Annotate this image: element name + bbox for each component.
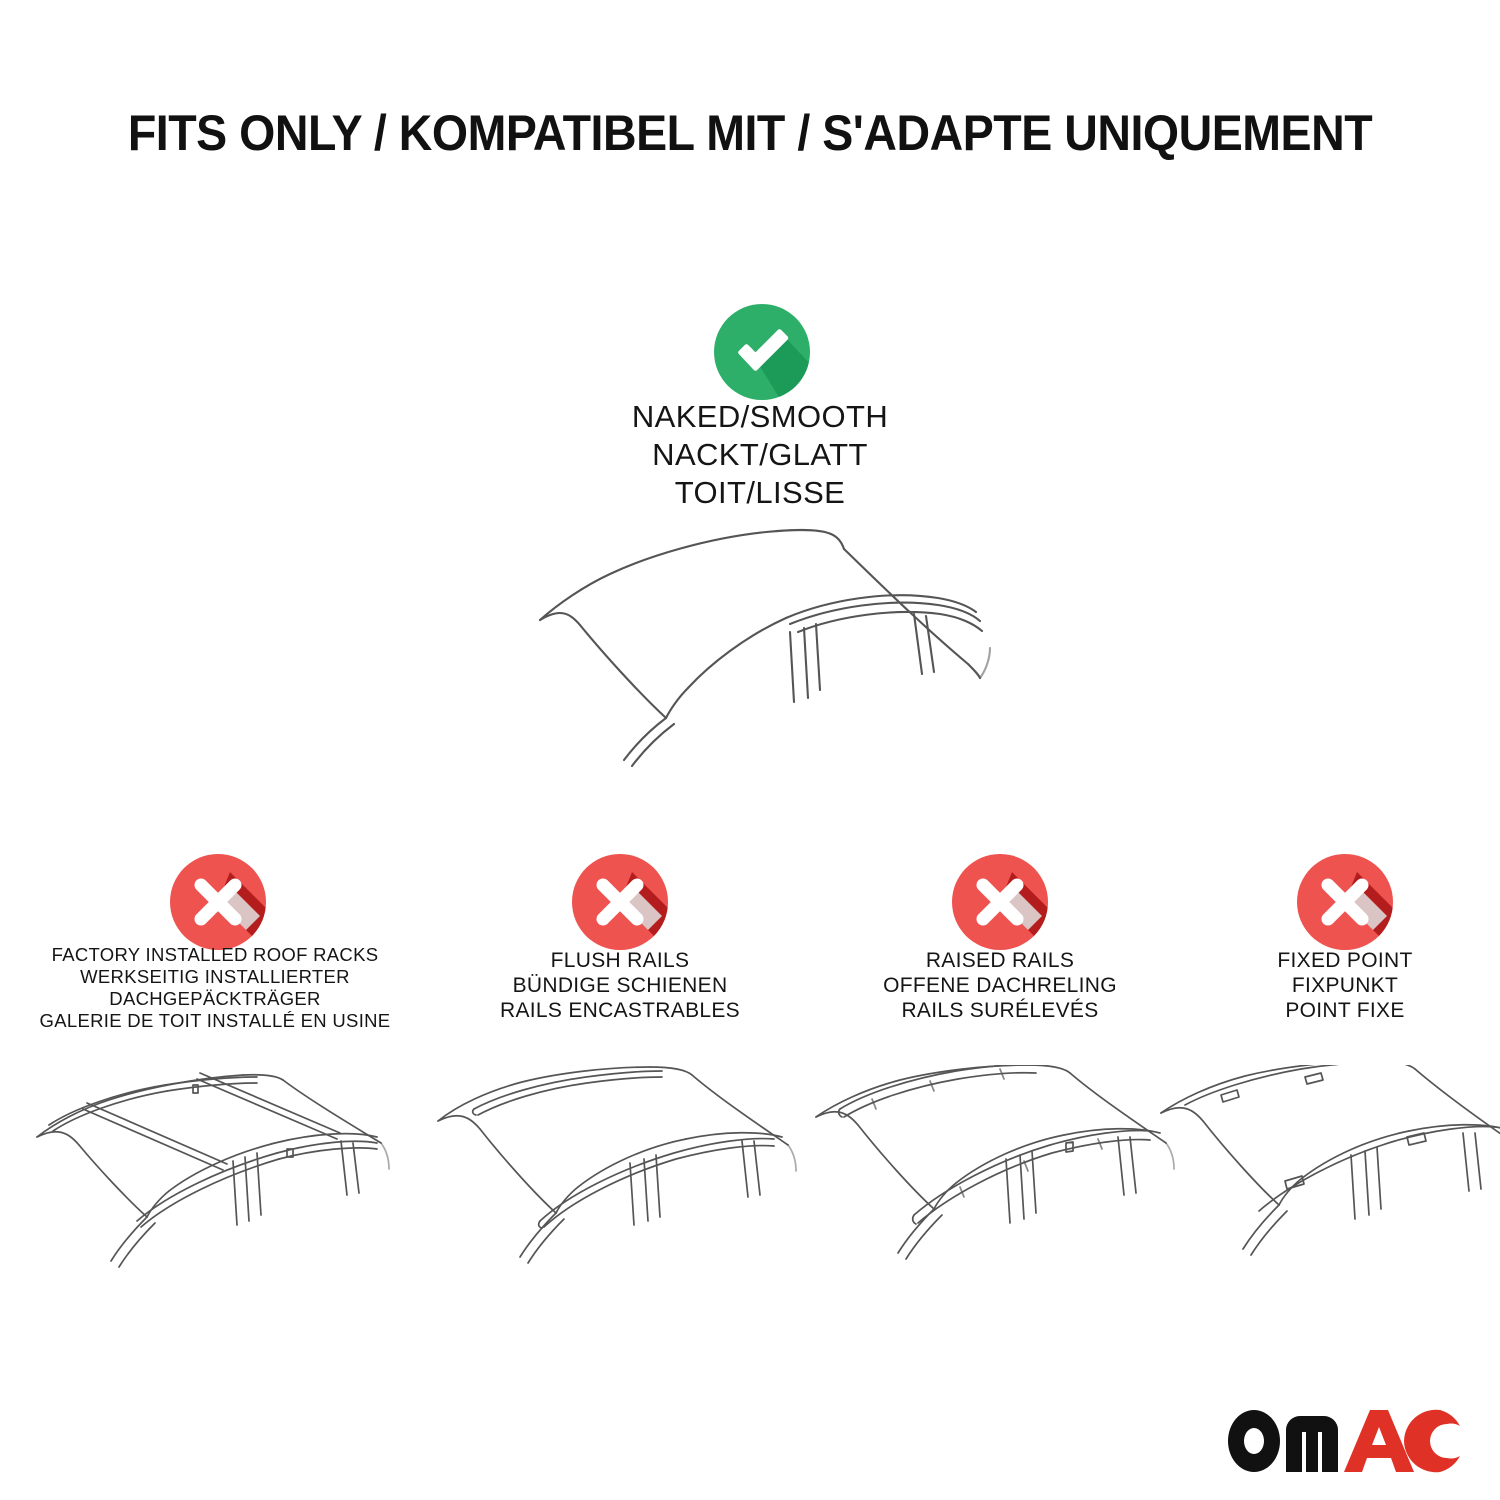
label-line-fr: POINT FIXE <box>1155 998 1500 1023</box>
label-line-en: RAISED RAILS <box>810 948 1190 973</box>
label-line-fr: RAILS SURÉLEVÉS <box>810 998 1190 1023</box>
compatible-label-line-de: NACKT/GLATT <box>500 436 1020 474</box>
incompatible-item-raised-rails: RAISED RAILS OFFENE DACHRELING RAILS SUR… <box>810 840 1190 1310</box>
label-line-de-1: WERKSEITIG INSTALLIERTER <box>25 966 405 988</box>
incompatible-item-factory-roof-racks: FACTORY INSTALLED ROOF RACKS WERKSEITIG … <box>25 840 405 1310</box>
page-title: FITS ONLY / KOMPATIBEL MIT / S'ADAPTE UN… <box>53 104 1448 162</box>
incompatible-label: FLUSH RAILS BÜNDIGE SCHIENEN RAILS ENCAS… <box>430 948 810 1023</box>
label-line-en: FIXED POINT <box>1155 948 1500 973</box>
incompatible-label: FIXED POINT FIXPUNKT POINT FIXE <box>1155 948 1500 1023</box>
label-line-de-2: DACHGEPÄCKTRÄGER <box>25 988 405 1010</box>
compatible-label-line-fr: TOIT/LISSE <box>500 474 1020 512</box>
compatible-label-line-en: NAKED/SMOOTH <box>500 398 1020 436</box>
incompatible-item-fixed-point: FIXED POINT FIXPUNKT POINT FIXE <box>1155 840 1500 1310</box>
incompatible-label: RAISED RAILS OFFENE DACHRELING RAILS SUR… <box>810 948 1190 1023</box>
car-roof-flush-rails-illustration <box>430 1065 810 1280</box>
incompatible-row: FACTORY INSTALLED ROOF RACKS WERKSEITIG … <box>0 840 1500 1310</box>
label-line-de: FIXPUNKT <box>1155 973 1500 998</box>
label-line-fr: RAILS ENCASTRABLES <box>430 998 810 1023</box>
check-circle-icon <box>712 302 812 402</box>
label-line-en: FLUSH RAILS <box>430 948 810 973</box>
car-roof-fixed-point-illustration <box>1155 1065 1500 1280</box>
label-line-de: OFFENE DACHRELING <box>810 973 1190 998</box>
label-line-en: FACTORY INSTALLED ROOF RACKS <box>25 944 405 966</box>
car-roof-naked-smooth-illustration <box>498 512 1022 784</box>
cross-circle-icon <box>1295 852 1395 952</box>
cross-circle-icon <box>168 852 268 952</box>
incompatible-item-flush-rails: FLUSH RAILS BÜNDIGE SCHIENEN RAILS ENCAS… <box>430 840 810 1310</box>
cross-circle-icon <box>950 852 1050 952</box>
incompatible-label: FACTORY INSTALLED ROOF RACKS WERKSEITIG … <box>25 944 405 1032</box>
label-line-de: BÜNDIGE SCHIENEN <box>430 973 810 998</box>
omac-logo <box>1228 1408 1460 1474</box>
compatible-label: NAKED/SMOOTH NACKT/GLATT TOIT/LISSE <box>500 398 1020 512</box>
car-roof-factory-rack-illustration <box>25 1065 405 1280</box>
label-line-fr: GALERIE DE TOIT INSTALLÉ EN USINE <box>25 1010 405 1032</box>
car-roof-raised-rails-illustration <box>810 1065 1190 1280</box>
cross-circle-icon <box>570 852 670 952</box>
